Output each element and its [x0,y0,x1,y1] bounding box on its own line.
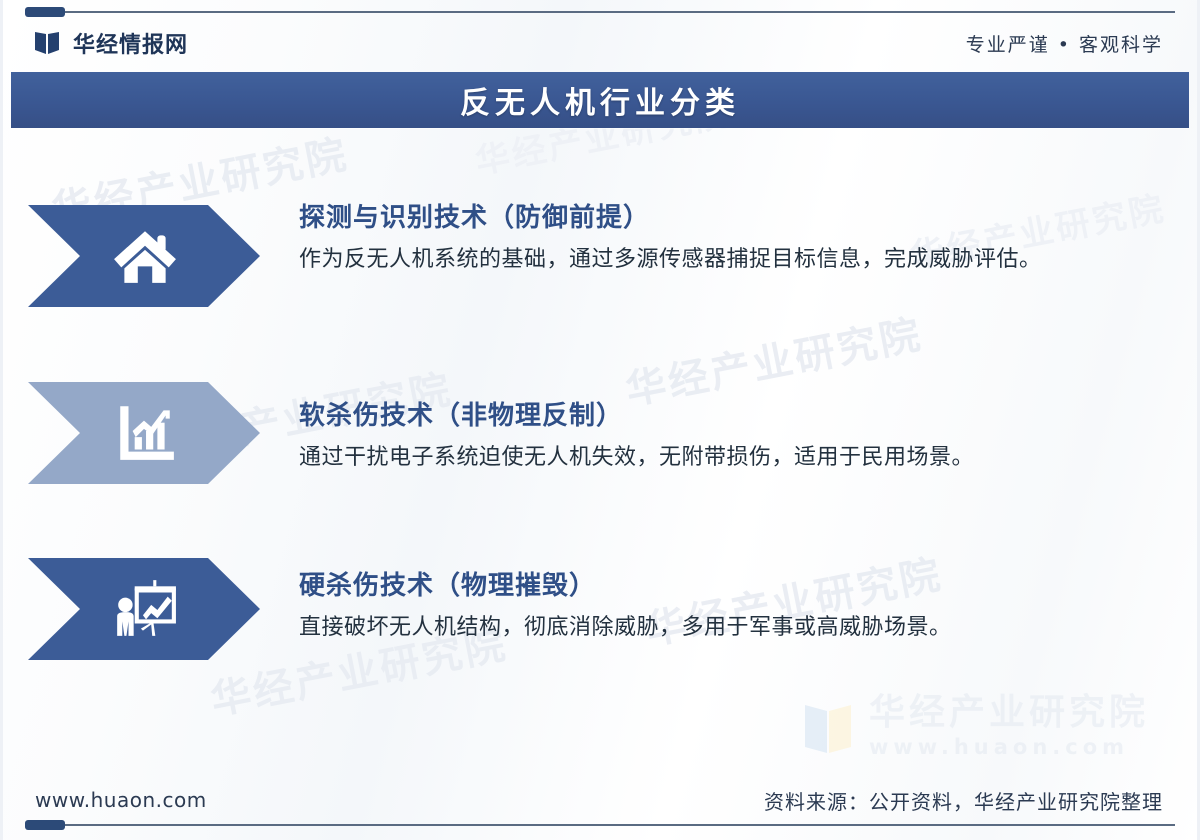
category-list: 探测与识别技术（防御前提） 作为反无人机系统的基础，通过多源传感器捕捉目标信息，… [3,150,1197,690]
item-description: 直接破坏无人机结构，彻底消除威胁，多用于军事或高威胁场景。 [299,611,1165,645]
header-slogan: 专业严谨 • 客观科学 [966,30,1163,57]
list-item: 软杀伤技术（非物理反制） 通过干扰电子系统迫使无人机失效，无附带损伤，适用于民用… [3,330,1197,510]
arrow-shape [28,205,260,307]
list-item: 探测与识别技术（防御前提） 作为反无人机系统的基础，通过多源传感器捕捉目标信息，… [3,150,1197,330]
item-title: 探测与识别技术（防御前提） [299,202,1165,235]
item-description: 作为反无人机系统的基础，通过多源传感器捕捉目标信息，完成威胁评估。 [299,243,1165,277]
huaon-logo-icon [803,699,855,755]
item-description: 通过干扰电子系统迫使无人机失效，无附带损伤，适用于民用场景。 [299,441,1165,475]
item-content: 探测与识别技术（防御前提） 作为反无人机系统的基础，通过多源传感器捕捉目标信息，… [299,202,1165,277]
open-book-logo-icon [33,30,61,56]
item-content: 硬杀伤技术（物理摧毁） 直接破坏无人机结构，彻底消除威胁，多用于军事或高威胁场景… [299,570,1165,645]
corner-logo-text: 华经产业研究院 www.huaon.com [869,695,1149,758]
divider-tab [25,820,65,830]
arrow-shape [28,382,260,484]
page-footer: www.huaon.com 资料来源：公开资料，华经产业研究院整理 [3,780,1197,820]
footer-source: 资料来源：公开资料，华经产业研究院整理 [764,786,1163,815]
list-item: 硬杀伤技术（物理摧毁） 直接破坏无人机结构，彻底消除威胁，多用于军事或高威胁场景… [3,510,1197,690]
item-title: 硬杀伤技术（物理摧毁） [299,570,1165,603]
page-header: 华经情报网 专业严谨 • 客观科学 [3,18,1197,68]
brand: 华经情报网 [33,27,188,59]
bottom-divider [25,824,1175,826]
item-title: 软杀伤技术（非物理反制） [299,400,1165,433]
arrow-shape [28,558,260,660]
brand-name: 华经情报网 [73,27,188,59]
corner-logo-cn: 华经产业研究院 [869,695,1149,731]
item-content: 软杀伤技术（非物理反制） 通过干扰电子系统迫使无人机失效，无附带损伤，适用于民用… [299,400,1165,475]
footer-url[interactable]: www.huaon.com [35,788,207,812]
corner-logo-en: www.huaon.com [869,737,1149,758]
corner-watermark-logo: 华经产业研究院 www.huaon.com [803,695,1149,758]
presentation-person-icon [112,576,178,642]
bar-chart-growth-icon [112,400,178,466]
title-banner: 反无人机行业分类 [11,72,1189,128]
top-divider [25,11,1175,13]
home-icon [112,223,178,289]
page-title: 反无人机行业分类 [460,78,740,122]
infographic-page: 华经产业研究院 华经产业研究院 华经产业研究院 华经产业研究院 华经产业研究院 … [0,0,1200,840]
divider-tab [25,7,65,17]
